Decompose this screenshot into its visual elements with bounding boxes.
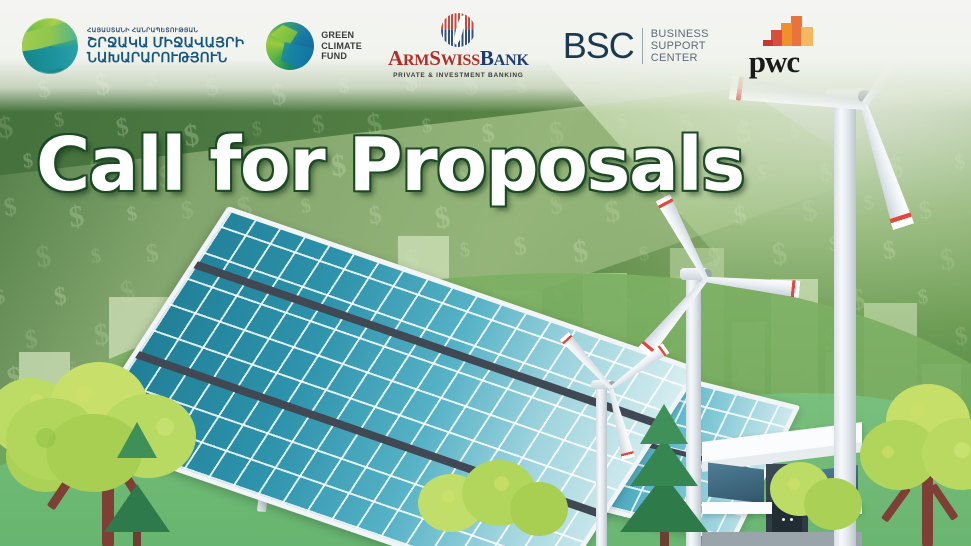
moe-globe-icon (22, 18, 78, 74)
logo-pwc[interactable]: pwc (749, 16, 819, 76)
bsc-wordmark: BSC (563, 30, 634, 62)
tree-deciduous-right (866, 384, 971, 546)
tree-shrub-right (770, 454, 866, 546)
bsc-line2: SUPPORT (651, 40, 709, 52)
tree-pine-center (612, 400, 722, 546)
pwc-wordmark: pwc (749, 48, 799, 76)
asb-sphere-icon (441, 13, 475, 47)
dollar-glyph: $ (22, 151, 35, 172)
bsc-divider (642, 28, 643, 64)
pwc-blocks-icon (763, 16, 819, 46)
logo-armswissbank[interactable]: ARMSWISSBANK PRIVATE & INVESTMENT BANKIN… (388, 13, 529, 79)
page-title: Call for Proposals (36, 128, 744, 202)
gcf-line1: GREEN (321, 30, 362, 41)
tree-pine-left (104, 418, 190, 546)
partner-logo-row: ՀԱՅԱՍՏԱՆԻ ՀԱՆՐԱՊԵՏՈՒԹՅԱՆ ՇՐՋԱԿԱ ՄԻՋԱՎԱՅՐ… (0, 0, 971, 92)
asb-tagline: PRIVATE & INVESTMENT BANKING (393, 72, 524, 79)
asb-name-p4: WISS (441, 52, 480, 69)
gcf-globe-icon (266, 22, 314, 70)
asb-name-p3: S (429, 46, 440, 70)
asb-name-p5: B (480, 46, 494, 70)
asb-name-p2: RM (403, 52, 429, 69)
moe-line2: ՆԱԽԱՐԱՐՈՒԹՅՈՒՆ (87, 51, 244, 65)
asb-wordmark: ARMSWISSBANK (388, 48, 529, 69)
dollar-glyph: $ (0, 112, 15, 144)
moe-line1: ՇՐՋԱԿԱ ՄԻՋԱՎԱՅՐԻ (87, 36, 244, 50)
logo-business-support-center[interactable]: BSC BUSINESS SUPPORT CENTER (563, 28, 709, 65)
turbine-blade (638, 274, 712, 358)
tree-shrub-center (418, 460, 568, 546)
turbine-blade (705, 271, 800, 298)
asb-name-p1: A (388, 46, 403, 70)
asb-name-p6: ANK (494, 52, 529, 69)
turbine-blade (854, 102, 914, 231)
gcf-line3: FUND (321, 51, 362, 62)
logo-ministry-of-environment[interactable]: ՀԱՅԱՍՏԱՆԻ ՀԱՆՐԱՊԵՏՈՒԹՅԱՆ ՇՐՋԱԿԱ ՄԻՋԱՎԱՅՐ… (22, 18, 244, 74)
logo-green-climate-fund[interactable]: GREEN CLIMATE FUND (266, 22, 362, 70)
call-for-proposals-banner: $$$$$$$$$$$$$$$$$$$$$$$$$$$$$$$$$$$$$$$$… (0, 0, 971, 546)
moe-superline: ՀԱՅԱՍՏԱՆԻ ՀԱՆՐԱՊԵՏՈՒԹՅԱՆ (87, 28, 244, 34)
gcf-line2: CLIMATE (321, 41, 362, 52)
bsc-line1: BUSINESS (651, 28, 709, 40)
bsc-line3: CENTER (651, 52, 709, 64)
